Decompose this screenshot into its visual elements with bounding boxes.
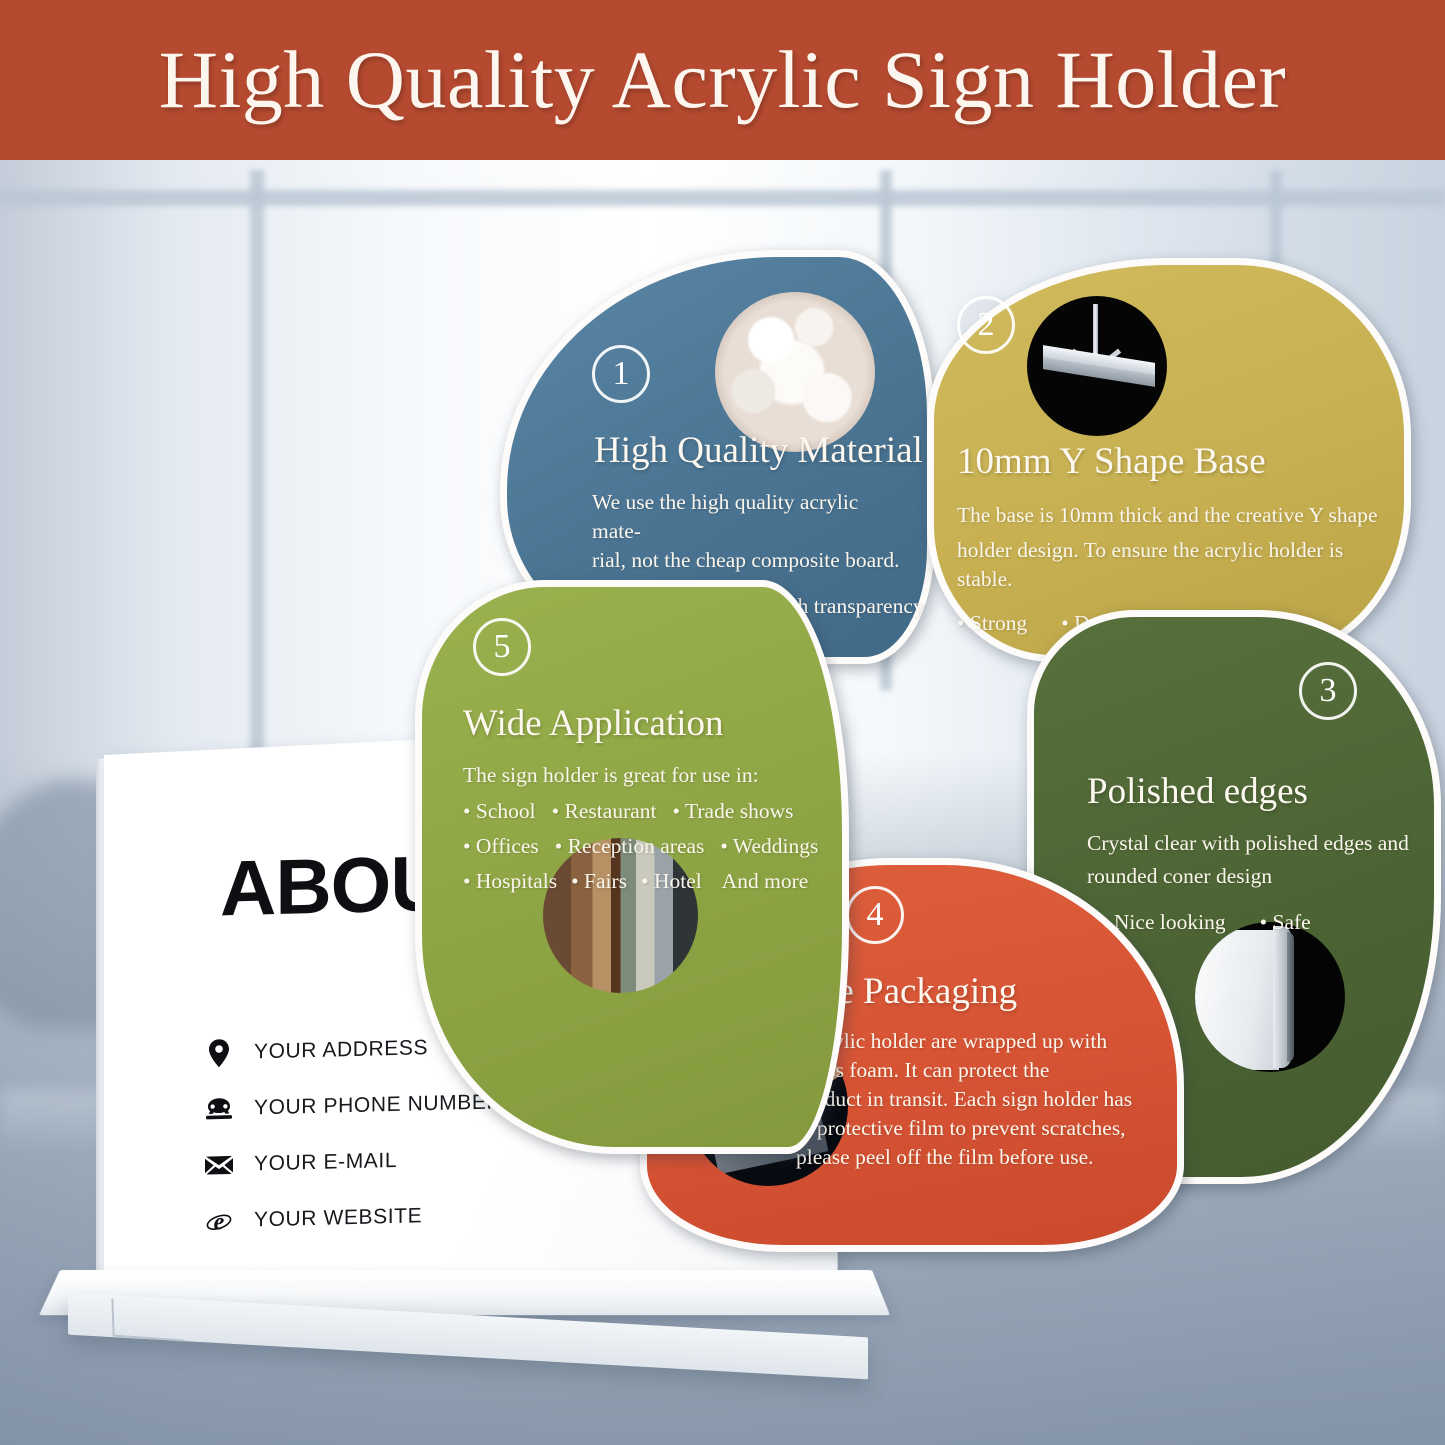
header-banner: High Quality Acrylic Sign Holder	[0, 0, 1445, 160]
infographic-stage: High Quality Acrylic Sign Holder CON ABO…	[0, 0, 1445, 1445]
desc-line: product in transit. Each sign holder has	[796, 1085, 1160, 1114]
segment-title: Wide Application	[463, 702, 813, 745]
bullet-item: Safe	[1260, 907, 1311, 938]
bullet-item: Restaurant	[552, 796, 657, 827]
desc-line: a protective film to prevent scratches,	[802, 1114, 1160, 1143]
feature-segment-2[interactable]: 2 10mm Y Shape Base The base is 10mm thi…	[927, 258, 1397, 648]
segment-title: 10mm Y Shape Base	[957, 440, 1397, 483]
telephone-icon	[202, 1094, 236, 1125]
contact-label: YOUR E-MAIL	[254, 1149, 397, 1176]
bullet-item: Fairs	[571, 866, 627, 897]
desc-line: holder design. To ensure the acrylic hol…	[957, 536, 1397, 594]
desc-line: We use the high quality acrylic mate-	[592, 488, 902, 546]
segment-number-badge: 1	[592, 345, 650, 403]
application-row: Offices Reception areas Weddings	[463, 831, 813, 862]
window-mullion-vertical	[250, 170, 264, 810]
segment-description: The sign holder is great for use in:	[463, 761, 813, 790]
location-pin-icon	[202, 1038, 236, 1069]
desc-line: The sign holder is great for use in:	[463, 761, 813, 790]
polished-edge-photo	[1195, 922, 1345, 1072]
bullet-item: Weddings	[720, 831, 818, 862]
desc-line: Crystal clear with polished edges and	[1087, 829, 1417, 858]
segment-description: The base is 10mm thick and the creative …	[957, 501, 1397, 594]
bullet-item: Reception areas	[555, 831, 705, 862]
page-title: High Quality Acrylic Sign Holder	[159, 39, 1286, 121]
website-icon: e	[202, 1206, 236, 1237]
segment-5-content: 5 Wide Application The sign holder is gr…	[463, 618, 813, 898]
segment-2-content: 2 10mm Y Shape Base The base is 10mm thi…	[957, 296, 1397, 639]
bullet-item: Trade shows	[673, 796, 794, 827]
segment-number-badge: 3	[1299, 662, 1357, 720]
application-list: School Restaurant Trade shows Offices Re…	[463, 796, 813, 898]
application-row: School Restaurant Trade shows	[463, 796, 813, 827]
desc-line: The base is 10mm thick and the creative …	[957, 501, 1397, 530]
application-row: Hospitals Fairs Hotel And more	[463, 866, 813, 897]
application-more-label: And more	[722, 866, 809, 897]
feature-wheel: 1 High Quality Material We use the high …	[395, 250, 1425, 1240]
desc-line: please peel off the film before use.	[796, 1143, 1160, 1172]
y-shape-base-support	[111, 1298, 184, 1341]
segment-number-badge: 5	[473, 618, 531, 676]
bullet-item: Offices	[463, 831, 539, 862]
segment-description: We use the high quality acrylic mate- ri…	[592, 488, 902, 575]
bullet-item: Strong	[957, 608, 1027, 639]
bullet-item: Hotel	[641, 866, 702, 897]
bullet-item: School	[463, 796, 536, 827]
envelope-icon	[202, 1150, 236, 1181]
window-mullion-horizontal	[0, 190, 1445, 206]
segment-title: Polished edges	[1087, 770, 1417, 813]
bullet-item: Hospitals	[463, 866, 557, 897]
segment-title: High Quality Material	[594, 429, 902, 472]
desc-line: rial, not the cheap composite board.	[592, 546, 902, 575]
segment-number-badge: 2	[957, 296, 1015, 354]
feature-segment-5[interactable]: 5 Wide Application The sign holder is gr…	[415, 580, 835, 1140]
segment-number-badge: 4	[846, 886, 904, 944]
svg-text:e: e	[214, 1209, 225, 1234]
